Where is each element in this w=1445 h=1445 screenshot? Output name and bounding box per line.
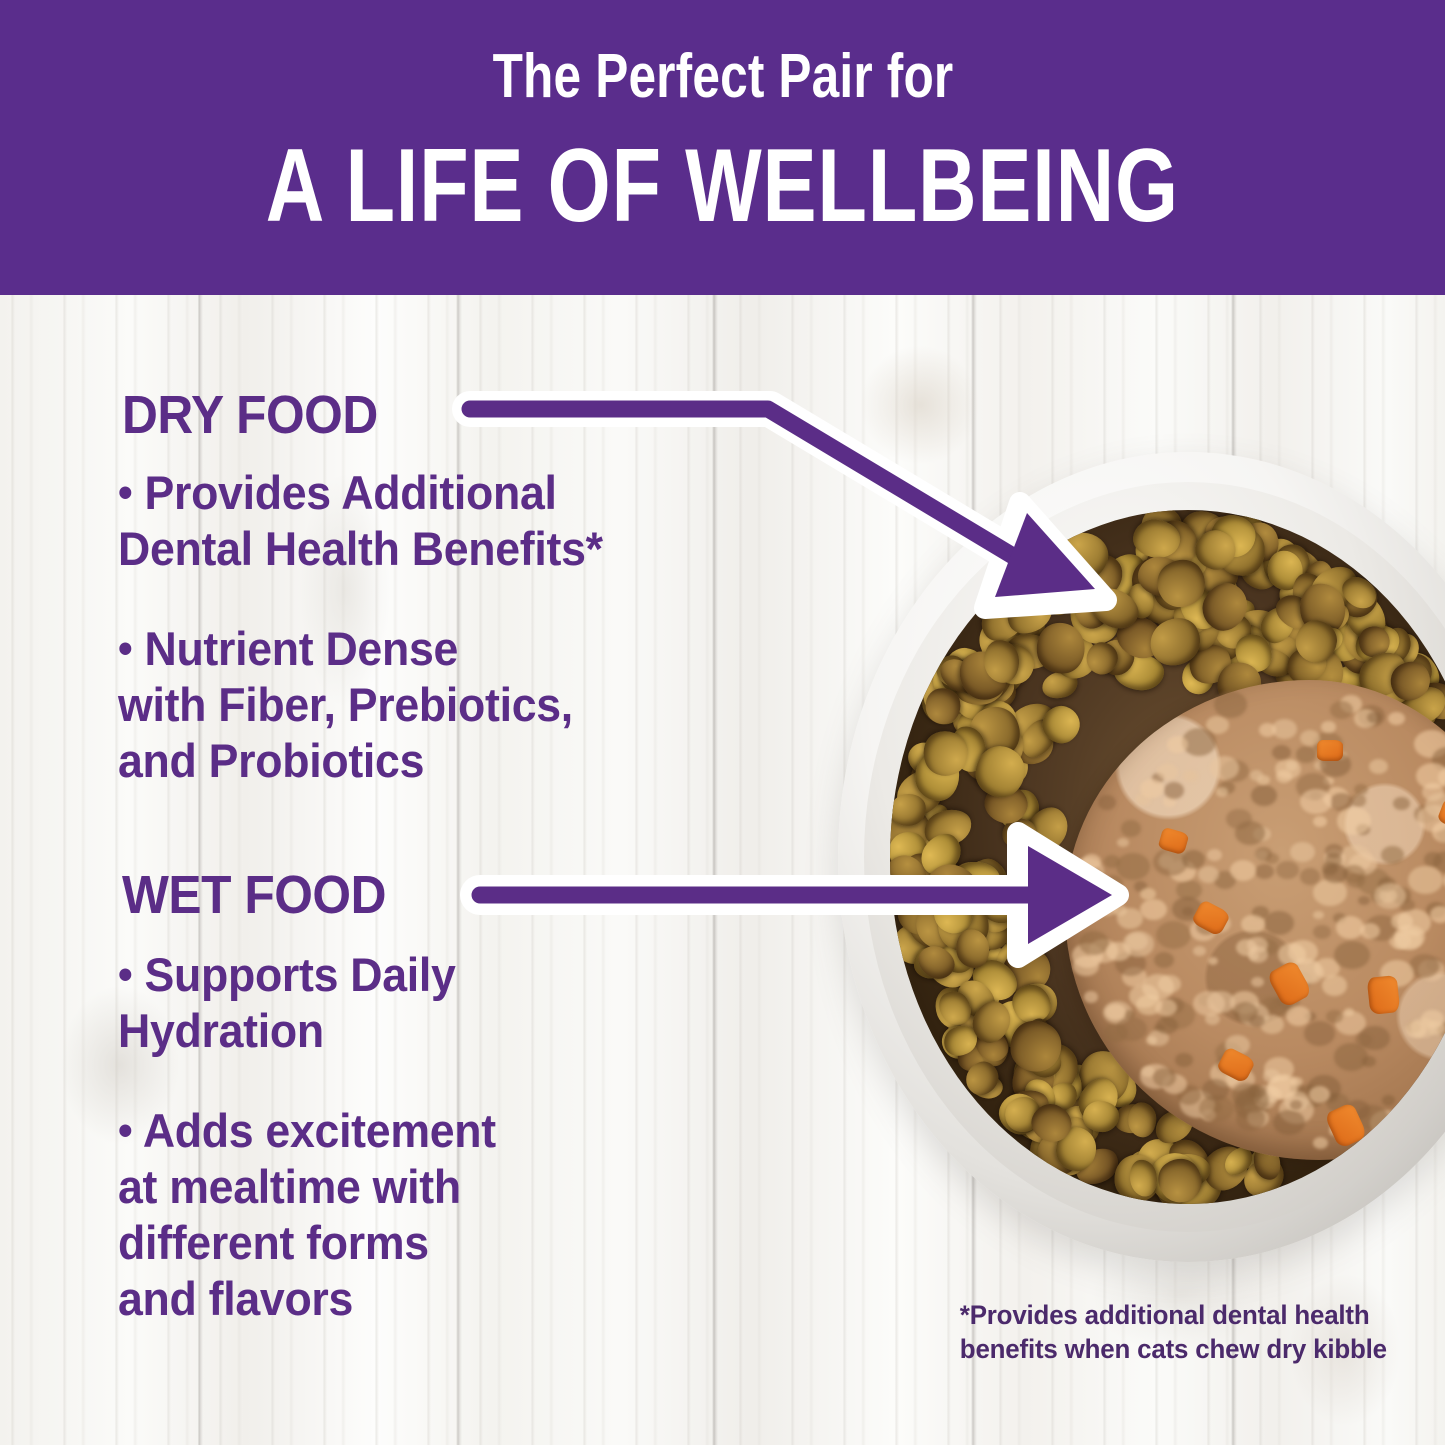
pate-grain bbox=[1207, 849, 1222, 861]
pate-grain bbox=[1388, 712, 1404, 725]
pate-grain bbox=[1351, 794, 1367, 807]
pate-grain bbox=[1326, 1010, 1342, 1023]
bullet-text-line: and Probiotics bbox=[118, 734, 424, 787]
pate-grain bbox=[1251, 785, 1277, 806]
pate-grain bbox=[1140, 899, 1167, 921]
infographic-canvas: The Perfect Pair for A LIFE OF WELLBEING… bbox=[0, 0, 1445, 1445]
bullet-text-line: Nutrient Dense bbox=[144, 622, 458, 675]
pate-grain bbox=[1121, 820, 1142, 837]
pate-grain bbox=[1255, 864, 1274, 879]
bullet-dot-icon: • bbox=[118, 1106, 132, 1155]
pate-grain bbox=[1226, 809, 1252, 829]
pate-grain bbox=[1313, 879, 1347, 906]
list-item: • Adds excitement at mealtime with diffe… bbox=[118, 1103, 783, 1327]
bullet-dot-icon: • bbox=[118, 950, 132, 999]
pate-grain bbox=[1286, 761, 1298, 770]
pate-grain bbox=[1296, 746, 1316, 762]
footnote: *Provides additional dental health benef… bbox=[960, 1298, 1363, 1366]
pate-grain bbox=[1313, 911, 1324, 920]
pate-grain bbox=[1140, 779, 1164, 798]
benefits-text-column: DRY FOOD • Provides Additional Dental He… bbox=[0, 295, 860, 1445]
bullet-text-line: and flavors bbox=[118, 1272, 353, 1325]
header-banner: The Perfect Pair for A LIFE OF WELLBEING bbox=[0, 0, 1445, 295]
carrot-piece bbox=[1317, 740, 1343, 761]
pate-grain bbox=[1276, 861, 1300, 880]
pate-grain bbox=[1382, 1095, 1396, 1106]
pate-grain bbox=[1290, 842, 1315, 862]
pate-grain bbox=[1198, 866, 1219, 883]
pate-grain bbox=[1381, 846, 1404, 864]
pate-grain bbox=[1154, 952, 1174, 968]
pate-grain bbox=[1153, 1068, 1176, 1087]
pate-grain bbox=[1393, 797, 1410, 811]
bullet-text-line: with Fiber, Prebiotics, bbox=[118, 678, 573, 731]
footnote-line-2: benefits when cats chew dry kibble bbox=[960, 1332, 1363, 1366]
list-item: • Supports Daily Hydration bbox=[118, 947, 783, 1059]
pate-grain bbox=[1202, 1079, 1230, 1101]
wood-grain-blotch bbox=[860, 345, 980, 465]
pate-grain bbox=[1334, 941, 1370, 970]
pate-grain bbox=[1330, 701, 1353, 719]
pate-grain bbox=[1309, 1086, 1331, 1103]
pate-grain bbox=[1374, 883, 1406, 909]
pate-grain bbox=[1214, 691, 1248, 718]
pate-grain bbox=[1073, 956, 1098, 976]
pate-grain bbox=[1394, 939, 1406, 948]
pate-grain bbox=[1241, 915, 1264, 934]
bullet-text-line: at mealtime with bbox=[118, 1160, 461, 1213]
bullet-text-line: Hydration bbox=[118, 1004, 324, 1057]
bullet-text-line: different forms bbox=[118, 1216, 429, 1269]
pate-grain bbox=[1401, 1106, 1423, 1124]
pate-grain bbox=[1116, 853, 1149, 880]
bullet-dot-icon: • bbox=[118, 468, 132, 517]
bullet-dot-icon: • bbox=[118, 624, 132, 673]
pate-grain bbox=[1430, 906, 1445, 923]
pate-grain bbox=[1321, 721, 1335, 733]
pate-grain bbox=[1362, 1056, 1375, 1067]
pate-grain bbox=[1251, 977, 1263, 987]
kibble-piece bbox=[1128, 1103, 1157, 1138]
pate-grain bbox=[1358, 896, 1370, 905]
pate-grain bbox=[1304, 1021, 1335, 1046]
cat-food-bowl-photo bbox=[838, 452, 1445, 1262]
pate-grain bbox=[1084, 991, 1098, 1002]
pate-grain bbox=[1236, 1107, 1265, 1130]
pate-grain bbox=[1081, 869, 1104, 888]
pate-grain bbox=[1248, 1085, 1265, 1099]
pate-grain bbox=[1344, 1008, 1354, 1016]
pate-grain bbox=[1210, 756, 1240, 780]
bullet-text-line: Dental Health Benefits* bbox=[118, 522, 603, 575]
pate-grain bbox=[1273, 1110, 1305, 1136]
pate-grain bbox=[1095, 886, 1111, 898]
pate-grain bbox=[1183, 770, 1198, 782]
pate-grain bbox=[1230, 860, 1256, 881]
pate-grain bbox=[1360, 923, 1380, 939]
bullet-text-line: Provides Additional bbox=[144, 466, 556, 519]
header-subtitle: The Perfect Pair for bbox=[492, 46, 953, 108]
pate-grain bbox=[1313, 925, 1331, 940]
list-item: • Nutrient Dense with Fiber, Prebiotics,… bbox=[118, 621, 783, 789]
section-heading-dry-food: DRY FOOD bbox=[122, 388, 378, 442]
list-item: • Provides Additional Dental Health Bene… bbox=[118, 465, 783, 577]
pate-grain bbox=[1323, 864, 1347, 884]
header-title: A LIFE OF WELLBEING bbox=[266, 134, 1179, 238]
pate-grain bbox=[1408, 866, 1443, 894]
pate-grain bbox=[1250, 770, 1263, 781]
bullet-list-wet-food: • Supports Daily Hydration • Adds excite… bbox=[118, 947, 818, 1353]
bullet-list-dry-food: • Provides Additional Dental Health Bene… bbox=[118, 465, 818, 815]
pate-grain bbox=[1175, 1053, 1193, 1067]
pate-grain bbox=[1140, 888, 1156, 900]
pate-grain bbox=[1313, 816, 1327, 827]
pate-grain bbox=[1416, 763, 1445, 789]
footnote-line-1: *Provides additional dental health bbox=[960, 1298, 1363, 1332]
pate-grain bbox=[1216, 787, 1228, 797]
pate-grain bbox=[1208, 957, 1219, 966]
carrot-piece bbox=[1367, 975, 1401, 1015]
pate-grain bbox=[1424, 852, 1442, 867]
pate-grain bbox=[1249, 1015, 1264, 1027]
pate-grain bbox=[1098, 795, 1117, 810]
pate-grain bbox=[1255, 847, 1272, 861]
pate-grain bbox=[1182, 850, 1206, 869]
pate-grain bbox=[1313, 1137, 1329, 1150]
pate-grain bbox=[1156, 921, 1191, 949]
pate-grain bbox=[1079, 931, 1108, 955]
pate-grain bbox=[1300, 789, 1332, 814]
pate-grain bbox=[1117, 838, 1129, 847]
pate-grain bbox=[1164, 782, 1185, 799]
pate-grain bbox=[1167, 736, 1187, 752]
bullet-text-line: Supports Daily bbox=[144, 948, 455, 1001]
pate-grain bbox=[1142, 974, 1175, 1000]
pate-grain bbox=[1300, 868, 1320, 884]
pate-grain bbox=[1116, 1017, 1147, 1042]
carrot-piece bbox=[1414, 1077, 1441, 1100]
bullet-text-line: Adds excitement bbox=[143, 1104, 496, 1157]
pate-grain bbox=[1369, 759, 1388, 774]
pate-grain bbox=[1337, 807, 1371, 835]
pate-grain bbox=[1193, 946, 1206, 956]
pate-grain bbox=[1355, 1033, 1372, 1047]
pate-grain bbox=[1367, 712, 1382, 724]
section-heading-wet-food: WET FOOD bbox=[122, 868, 386, 922]
pate-grain bbox=[1354, 784, 1368, 795]
pate-grain bbox=[1322, 975, 1348, 996]
pate-grain bbox=[1156, 1017, 1178, 1034]
pate-grain bbox=[1264, 911, 1294, 935]
pate-grain bbox=[1157, 764, 1178, 781]
pate-grain bbox=[1286, 1006, 1311, 1026]
